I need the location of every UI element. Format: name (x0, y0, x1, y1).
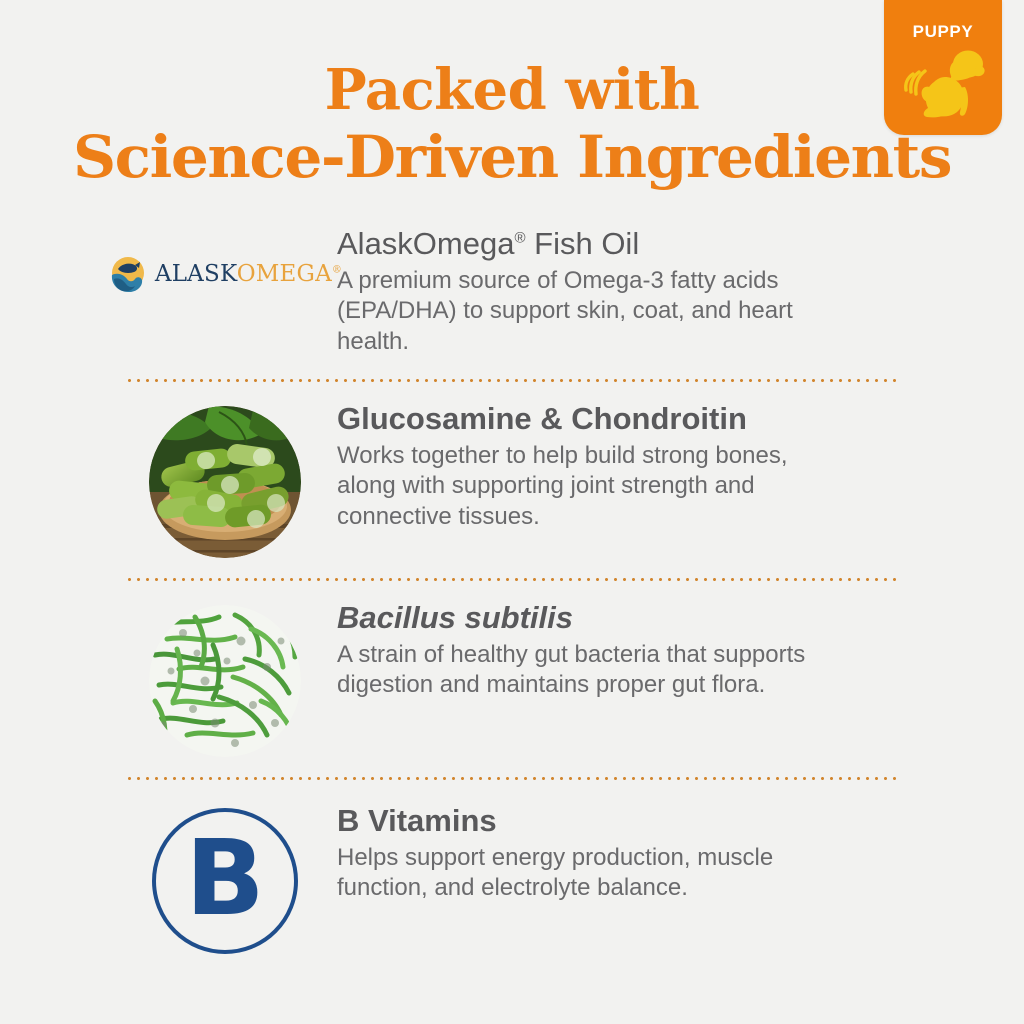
alaskomega-logo-icon (108, 253, 148, 295)
ingredient-title-fish-oil-rest: Fish Oil (526, 226, 640, 261)
headline-line-2: Science-Driven Ingredients (0, 128, 1024, 186)
ingredient-description-bacillus: A strain of healthy gut bacteria that su… (337, 640, 807, 701)
green-capsules-in-wooden-bowl-photo (149, 406, 301, 558)
ingredient-row-b-vitamins: B B Vitamins Helps support energy produc… (0, 780, 1024, 954)
ingredient-title-fish-oil-brand: AlaskOmega (337, 226, 514, 261)
alaskomega-logo: ALASKOMEGA® (108, 253, 342, 295)
ingredient-media-bacillus (125, 599, 325, 757)
page-title: Packed with Science-Driven Ingredients (0, 62, 1024, 186)
ingredient-row-bacillus: Bacillus subtilis A strain of healthy gu… (0, 581, 1024, 777)
ingredient-media-glucosamine (125, 400, 325, 558)
ingredient-text-bacillus: Bacillus subtilis A strain of healthy gu… (325, 599, 899, 701)
puppy-badge-label: PUPPY (884, 22, 1002, 42)
ingredient-description-glucosamine: Works together to help build strong bone… (337, 441, 807, 532)
ingredient-text-glucosamine: Glucosamine & Chondroitin Works together… (325, 400, 899, 532)
letter-b-circle-icon: B (152, 808, 298, 954)
ingredient-media-fish-oil: ALASKOMEGA® (125, 225, 325, 295)
ingredient-title-fish-oil: AlaskOmega® Fish Oil (337, 227, 899, 262)
ingredient-title-bacillus: Bacillus subtilis (337, 601, 899, 636)
ingredient-list: ALASKOMEGA® AlaskOmega® Fish Oil A premi… (0, 225, 1024, 954)
ingredient-title-glucosamine: Glucosamine & Chondroitin (337, 402, 899, 437)
letter-b-glyph: B (185, 826, 264, 930)
ingredient-description-b-vitamins: Helps support energy production, muscle … (337, 843, 807, 904)
ingredient-media-b-vitamins: B (125, 802, 325, 954)
ingredient-title-fish-oil-registered-mark: ® (514, 230, 525, 247)
ingredient-text-fish-oil: AlaskOmega® Fish Oil A premium source of… (325, 225, 899, 357)
ingredient-row-glucosamine: Glucosamine & Chondroitin Works together… (0, 382, 1024, 578)
ingredient-row-fish-oil: ALASKOMEGA® AlaskOmega® Fish Oil A premi… (0, 225, 1024, 379)
ingredient-description-fish-oil: A premium source of Omega-3 fatty acids … (337, 266, 807, 357)
alaskomega-logo-text: ALASKOMEGA® (155, 261, 342, 287)
bacillus-subtilis-microscopy-photo (149, 605, 301, 757)
headline-line-1: Packed with (0, 62, 1024, 118)
alaskomega-logo-text-alask: ALASK (155, 261, 237, 287)
ingredient-title-b-vitamins: B Vitamins (337, 804, 899, 839)
ingredient-text-b-vitamins: B Vitamins Helps support energy producti… (325, 802, 899, 904)
alaskomega-logo-text-omega: OMEGA (237, 261, 332, 287)
